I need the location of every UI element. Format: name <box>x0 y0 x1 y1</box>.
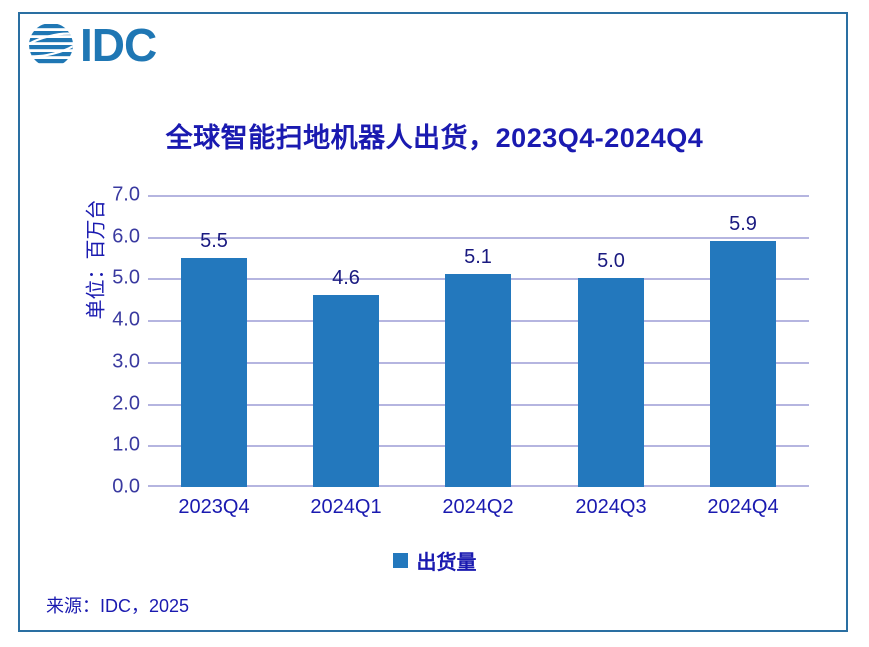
bar-value-label: 5.9 <box>693 213 793 236</box>
chart-title: 全球智能扫地机器人出货，2023Q4-2024Q4 <box>0 116 869 155</box>
x-axis-ticks: 2023Q4 2024Q1 2024Q2 2024Q3 2024Q4 <box>148 496 809 524</box>
bar-value-label: 4.6 <box>296 267 396 290</box>
y-tick-label: 7.0 <box>96 184 140 207</box>
bar-value-label: 5.0 <box>561 250 661 273</box>
y-tick-label: 3.0 <box>96 350 140 373</box>
chart-page: IDC 全球智能扫地机器人出货，2023Q4-2024Q4 单位：百万台 7.0… <box>0 0 869 647</box>
idc-logo: IDC <box>26 20 156 70</box>
y-tick-label: 4.0 <box>96 309 140 332</box>
chart-legend: 出货量 <box>0 546 869 575</box>
gridline <box>148 195 809 197</box>
x-tick-label: 2024Q1 <box>280 496 412 519</box>
idc-logo-text: IDC <box>80 22 156 68</box>
y-axis-ticks: 7.0 6.0 5.0 4.0 3.0 2.0 1.0 0.0 <box>88 195 140 487</box>
x-tick-label: 2024Q3 <box>545 496 677 519</box>
y-tick-label: 2.0 <box>96 392 140 415</box>
legend-swatch-icon <box>393 553 408 568</box>
bar-2023q4[interactable] <box>181 258 247 487</box>
bar-2024q2[interactable] <box>445 274 511 487</box>
legend-entry-label: 出货量 <box>417 546 477 575</box>
y-tick-label: 6.0 <box>96 225 140 248</box>
x-tick-label: 2024Q4 <box>677 496 809 519</box>
source-note: 来源：IDC，2025 <box>46 592 189 618</box>
plot-area: 5.5 4.6 5.1 5.0 5.9 <box>148 195 809 487</box>
bar-2024q3[interactable] <box>578 278 644 487</box>
y-tick-label: 0.0 <box>96 476 140 499</box>
bar-2024q1[interactable] <box>313 295 379 487</box>
idc-globe-icon <box>26 20 76 70</box>
bar-value-label: 5.1 <box>428 246 528 269</box>
x-tick-label: 2023Q4 <box>148 496 280 519</box>
y-tick-label: 1.0 <box>96 434 140 457</box>
bar-value-label: 5.5 <box>164 230 264 253</box>
y-tick-label: 5.0 <box>96 267 140 290</box>
x-tick-label: 2024Q2 <box>412 496 544 519</box>
bar-2024q4[interactable] <box>710 241 776 487</box>
